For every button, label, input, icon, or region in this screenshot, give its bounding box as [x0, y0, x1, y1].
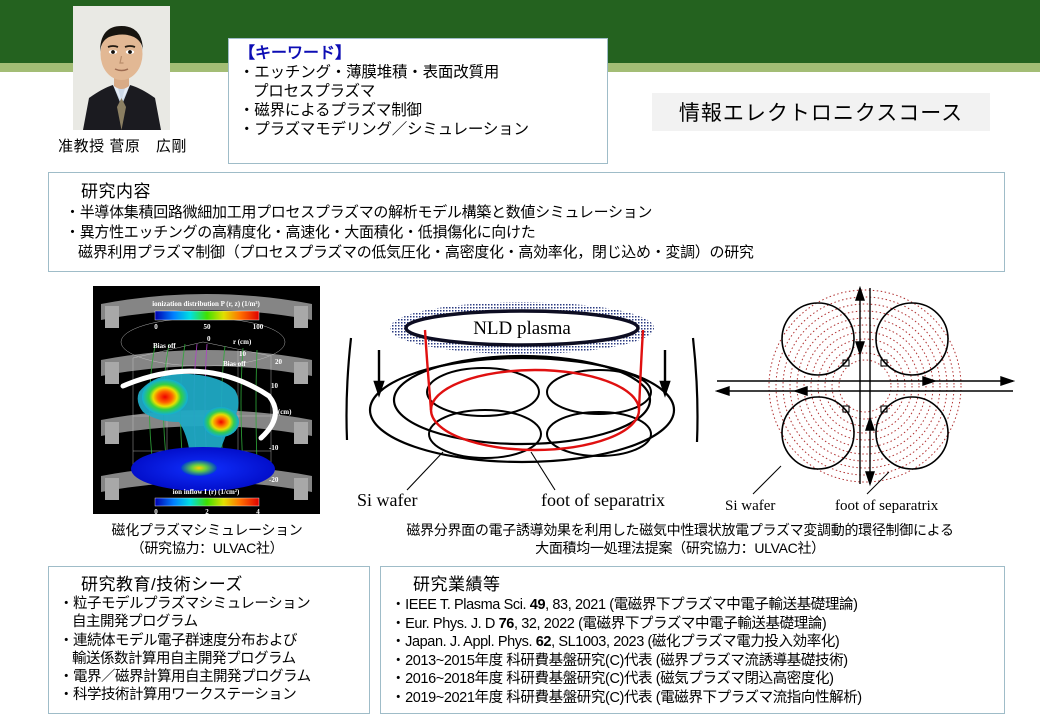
left-caption-line-1: 磁化プラズマシミュレーション — [62, 521, 352, 539]
svg-text:r (cm): r (cm) — [233, 338, 252, 346]
publication-volume: 62 — [536, 634, 551, 650]
publication-volume: 76 — [499, 616, 514, 632]
svg-text:20: 20 — [275, 358, 283, 366]
right-fig-label-separatrix: foot of separatrix — [835, 498, 939, 514]
publication-item: ・IEEE T. Plasma Sci. 49, 83, 2021 (電磁界下プ… — [391, 596, 1004, 615]
svg-text:0: 0 — [271, 418, 275, 426]
left-caption-line-2: （研究協力：ULVAC社） — [62, 539, 352, 557]
keyword-line-1: ・エッチング・薄膜堆積・表面改質用 — [239, 64, 599, 83]
seeds-line-3: ・連続体モデル電子群速度分布および — [59, 632, 369, 650]
svg-text:100: 100 — [253, 323, 264, 331]
mid-fig-label-si-wafer: Si wafer — [357, 490, 417, 510]
magnetized-plasma-simulation-figure: ionization distribution P (r, z) (1/m³) … — [93, 286, 320, 514]
svg-text:-10: -10 — [269, 444, 279, 452]
professor-name: 准教授 菅原 広剛 — [20, 135, 225, 156]
research-seeds-box: 研究教育/技術シーズ ・粒子モデルプラズマシミュレーション 自主開発プログラム … — [48, 566, 370, 714]
svg-text:0: 0 — [154, 323, 158, 331]
right-fig-label-si-wafer: Si wafer — [725, 498, 775, 514]
left-fig-top-colorbar-label: ionization distribution P (r, z) (1/m³) — [152, 300, 260, 308]
shared-figure-caption: 磁界分界面の電子誘導効果を利用した磁気中性環状放電プラズマ変調動的環径制御による… — [330, 521, 1030, 557]
publication-item: ・Eur. Phys. J. D 76, 32, 2022 (電磁界下プラズマ中… — [391, 615, 1004, 634]
svg-text:Bias off: Bias off — [153, 342, 176, 350]
svg-text:-20: -20 — [269, 476, 279, 484]
svg-text:2: 2 — [205, 508, 209, 514]
left-figure-caption: 磁化プラズマシミュレーション （研究協力：ULVAC社） — [62, 521, 352, 557]
shared-caption-line-1: 磁界分界面の電子誘導効果を利用した磁気中性環状放電プラズマ変調動的環径制御による — [330, 521, 1030, 539]
research-content-box: 研究内容 ・半導体集積回路微細加工用プロセスプラズマの解析モデル構築と数値シミュ… — [48, 172, 1005, 272]
keyword-line-2: プロセスプラズマ — [239, 83, 599, 102]
keywords-box: 【キーワード】 ・エッチング・薄膜堆積・表面改質用 プロセスプラズマ ・磁界によ… — [228, 38, 608, 164]
research-content-line-3: 磁界利用プラズマ制御（プロセスプラズマの低気圧化・高密度化・高効率化，閉じ込め・… — [65, 243, 1004, 263]
publication-item: ・Japan. J. Appl. Phys. 62, SL1003, 2023 … — [391, 633, 1004, 652]
svg-text:0: 0 — [207, 335, 211, 343]
professor-photo — [73, 6, 170, 130]
left-fig-bottom-colorbar-label: ion inflow I (r) (1/cm²) — [173, 488, 240, 496]
publications-list: ・IEEE T. Plasma Sci. 49, 83, 2021 (電磁界下プ… — [391, 596, 1004, 707]
mid-fig-label-separatrix: foot of separatrix — [541, 490, 665, 510]
research-content-line-1: ・半導体集積回路微細加工用プロセスプラズマの解析モデル構築と数値シミュレーション — [65, 203, 1004, 223]
svg-text:4: 4 — [256, 508, 260, 514]
publication-item: ・2016~2018年度 科研費基盤研究(C)代表 (磁気プラズマ閉込高密度化) — [391, 670, 1004, 689]
keywords-title: 【キーワード】 — [239, 44, 599, 64]
seeds-line-5: ・電界／磁界計算用自主開発プログラム — [59, 668, 369, 686]
svg-text:Bias off: Bias off — [223, 360, 246, 368]
seeds-line-6: ・科学技術計算用ワークステーション — [59, 686, 369, 704]
seeds-line-4: 輸送係数計算用自主開発プログラム — [59, 650, 369, 668]
svg-text:50: 50 — [204, 323, 212, 331]
svg-text:10: 10 — [239, 350, 247, 358]
nld-plasma-ring-label: NLD plasma — [473, 318, 571, 339]
svg-text:0: 0 — [154, 508, 158, 514]
publication-item: ・2019~2021年度 科研費基盤研究(C)代表 (電磁界下プラズマ流指向性解… — [391, 689, 1004, 708]
seeds-heading: 研究教育/技術シーズ — [59, 570, 369, 595]
research-content-line-2: ・異方性エッチングの高精度化・高速化・大面積化・低損傷化に向けた — [65, 223, 1004, 243]
research-content-heading: 研究内容 — [65, 177, 1004, 202]
course-title: 情報エレクトロニクスコース — [652, 93, 990, 131]
publication-volume: 49 — [530, 597, 545, 613]
seeds-line-1: ・粒子モデルプラズマシミュレーション — [59, 595, 369, 613]
seeds-line-2: 自主開発プログラム — [59, 613, 369, 631]
publications-heading: 研究業績等 — [391, 570, 1004, 595]
shared-caption-line-2: 大面積均一処理法提案（研究協力：ULVAC社） — [330, 539, 1030, 557]
svg-text:z (cm): z (cm) — [273, 408, 292, 416]
keyword-line-3: ・磁界によるプラズマ制御 — [239, 102, 599, 121]
publications-box: 研究業績等 ・IEEE T. Plasma Sci. 49, 83, 2021 … — [380, 566, 1005, 714]
publication-item: ・2013~2015年度 科研費基盤研究(C)代表 (磁界プラズマ流誘導基礎技術… — [391, 652, 1004, 671]
nld-plasma-top-view-figure: Si wafer foot of separatrix — [715, 286, 1015, 518]
nld-plasma-perspective-figure: NLD plasma Si wafer foot of separatrix — [335, 292, 705, 514]
keyword-line-4: ・プラズマモデリング／シミュレーション — [239, 121, 599, 140]
svg-text:10: 10 — [271, 382, 279, 390]
